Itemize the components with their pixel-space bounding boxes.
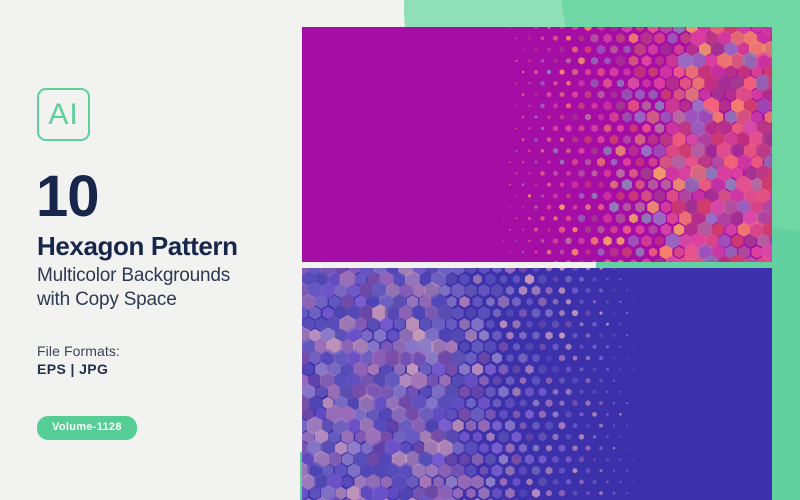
blue-hexagon-pattern <box>302 268 772 500</box>
blue-hexagon-preview <box>302 268 772 500</box>
file-formats-value: EPS | JPG <box>37 361 108 377</box>
file-formats-label: File Formats: <box>37 343 120 359</box>
page-title: Hexagon Pattern <box>37 232 238 261</box>
info-column: AI 10 Hexagon Pattern Multicolor Backgro… <box>0 0 300 500</box>
ai-badge-label: AI <box>48 100 78 130</box>
product-preview-canvas: AI 10 Hexagon Pattern Multicolor Backgro… <box>0 0 800 500</box>
product-subtitle: Multicolor Backgrounds with Copy Space <box>37 264 292 312</box>
subtitle-line-1: Multicolor Backgrounds <box>37 264 292 288</box>
subtitle-line-2: with Copy Space <box>37 288 292 312</box>
volume-badge: Volume-1128 <box>37 416 137 440</box>
adobe-illustrator-badge: AI <box>37 88 90 141</box>
product-count: 10 <box>36 168 99 226</box>
magenta-hexagon-preview <box>302 27 772 262</box>
magenta-hexagon-pattern <box>302 27 772 262</box>
